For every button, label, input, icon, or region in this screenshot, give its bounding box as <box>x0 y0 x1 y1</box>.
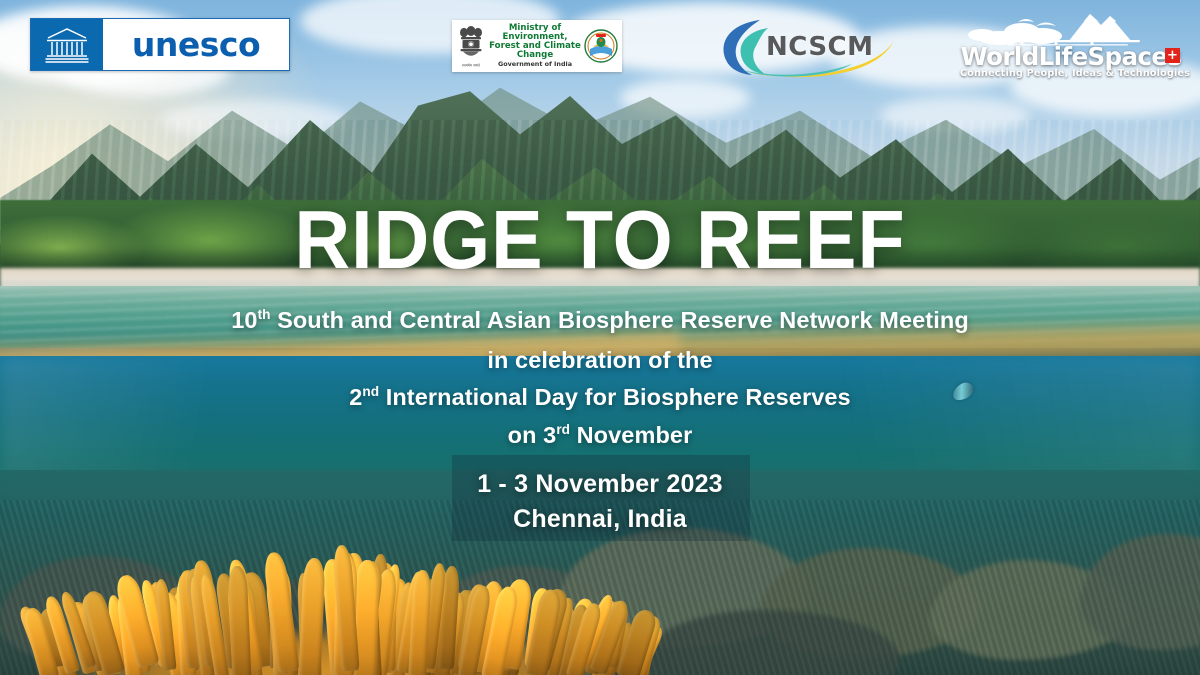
moefcc-seal-icon <box>584 29 618 63</box>
ministry-line-1: Ministry of Environment, <box>489 24 581 42</box>
meeting-ordinal-suffix: th <box>258 307 271 322</box>
date-month: November <box>570 422 692 448</box>
ncscm-wordmark: NCSCM <box>766 32 874 62</box>
day-ordinal-number: 2 <box>349 384 362 410</box>
background-scene <box>0 0 1200 675</box>
date-ordinal-suffix: rd <box>556 422 570 437</box>
staghorn-coral <box>30 548 650 675</box>
ministry-sanskrit-motto: सत्यमेव जयते <box>462 63 481 68</box>
logo-worldlifespaces[interactable]: WorldLifeSpaces + Connecting People, Ide… <box>960 8 1182 86</box>
unesco-wordmark: unesco <box>103 19 289 70</box>
meeting-title: South and Central Asian Biosphere Reserv… <box>270 307 968 333</box>
ashoka-lion-capital-icon: सत्यमेव जयते <box>456 23 486 69</box>
ministry-line-2: Forest and Climate Change <box>489 42 581 60</box>
day-ordinal-suffix: nd <box>362 384 379 399</box>
logo-unesco[interactable]: unesco <box>30 18 290 71</box>
day-title: International Day for Biosphere Reserves <box>379 384 851 410</box>
worldlifespaces-wordmark: WorldLifeSpaces <box>960 42 1182 71</box>
meeting-ordinal-number: 10 <box>231 307 257 333</box>
ministry-text-block: Ministry of Environment, Forest and Clim… <box>489 24 581 68</box>
ministry-line-3: Government of India <box>489 61 581 68</box>
event-poster: unesco सत्यमेव जयते <box>0 0 1200 675</box>
swiss-cross-badge: + <box>1165 48 1180 63</box>
worldlifespaces-tagline: Connecting People, Ideas & Technologies <box>960 68 1182 79</box>
date-ordinal-number: on 3 <box>508 422 557 448</box>
event-location: Chennai, India <box>0 505 1200 534</box>
subtitle-line-1: 10th South and Central Asian Biosphere R… <box>0 308 1200 333</box>
subtitle-line-4: on 3rd November <box>0 423 1200 448</box>
subtitle-line-2: in celebration of the <box>0 348 1200 373</box>
logo-ncscm[interactable]: NCSCM <box>712 14 897 78</box>
logo-ministry-of-environment[interactable]: सत्यमेव जयते Ministry of Environment, Fo… <box>452 20 622 72</box>
event-dates: 1 - 3 November 2023 <box>0 470 1200 499</box>
logo-bar: unesco सत्यमेव जयते <box>0 0 1200 96</box>
poster-headline: RIDGE TO REEF <box>42 198 1158 281</box>
subtitle-line-3: 2nd International Day for Biosphere Rese… <box>0 385 1200 410</box>
greek-temple-emblem-icon <box>31 19 103 70</box>
